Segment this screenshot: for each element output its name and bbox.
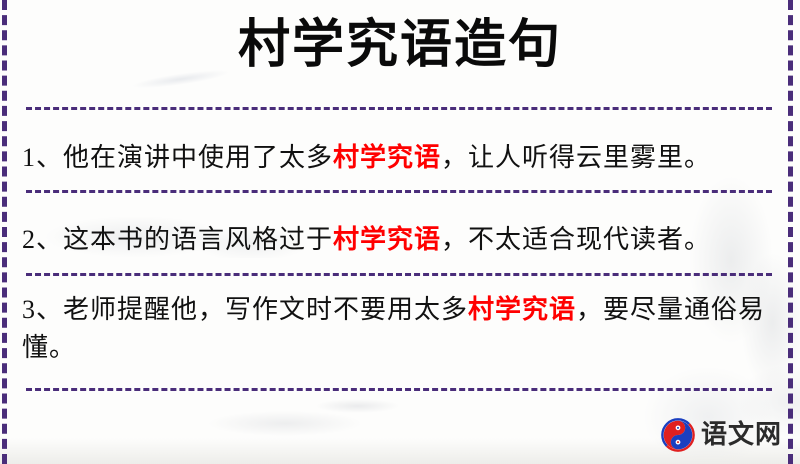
sentence-text-after-2: ，不太适合现代读者。 <box>441 225 711 254</box>
sentence-text-after-1: ，让人听得云里雾里。 <box>441 143 711 172</box>
keyword-highlight-1: 村学究语 <box>333 143 441 172</box>
divider-4 <box>26 388 772 391</box>
sentence-text-before-2: 这本书的语言风格过于 <box>63 225 333 254</box>
yinyang-fish-icon <box>661 418 695 452</box>
sentence-index-1: 1、 <box>22 143 63 172</box>
border-right-dashed <box>788 0 793 464</box>
divider-3 <box>26 273 772 276</box>
sentence-item-2: 2、这本书的语言风格过于村学究语，不太适合现代读者。 <box>22 221 774 259</box>
sentence-index-3: 3、 <box>22 295 63 324</box>
sentence-text-before-1: 他在演讲中使用了太多 <box>63 143 333 172</box>
sentence-item-1: 1、他在演讲中使用了太多村学究语，让人听得云里雾里。 <box>22 139 774 177</box>
site-logo[interactable]: 语文网 <box>661 416 782 454</box>
keyword-highlight-3: 村学究语 <box>468 295 576 324</box>
worksheet-page: 村学究语造句 1、他在演讲中使用了太多村学究语，让人听得云里雾里。 2、这本书的… <box>0 0 800 464</box>
page-title: 村学究语造句 <box>0 16 800 76</box>
sentence-index-2: 2、 <box>22 225 63 254</box>
border-left-dashed <box>2 0 7 464</box>
divider-1 <box>26 107 772 110</box>
sentence-item-3: 3、老师提醒他，写作文时不要用太多村学究语，要尽量通俗易懂。 <box>22 291 774 367</box>
sentence-text-before-3: 老师提醒他，写作文时不要用太多 <box>63 295 468 324</box>
keyword-highlight-2: 村学究语 <box>333 225 441 254</box>
divider-2 <box>26 190 772 193</box>
site-logo-text: 语文网 <box>701 422 782 448</box>
